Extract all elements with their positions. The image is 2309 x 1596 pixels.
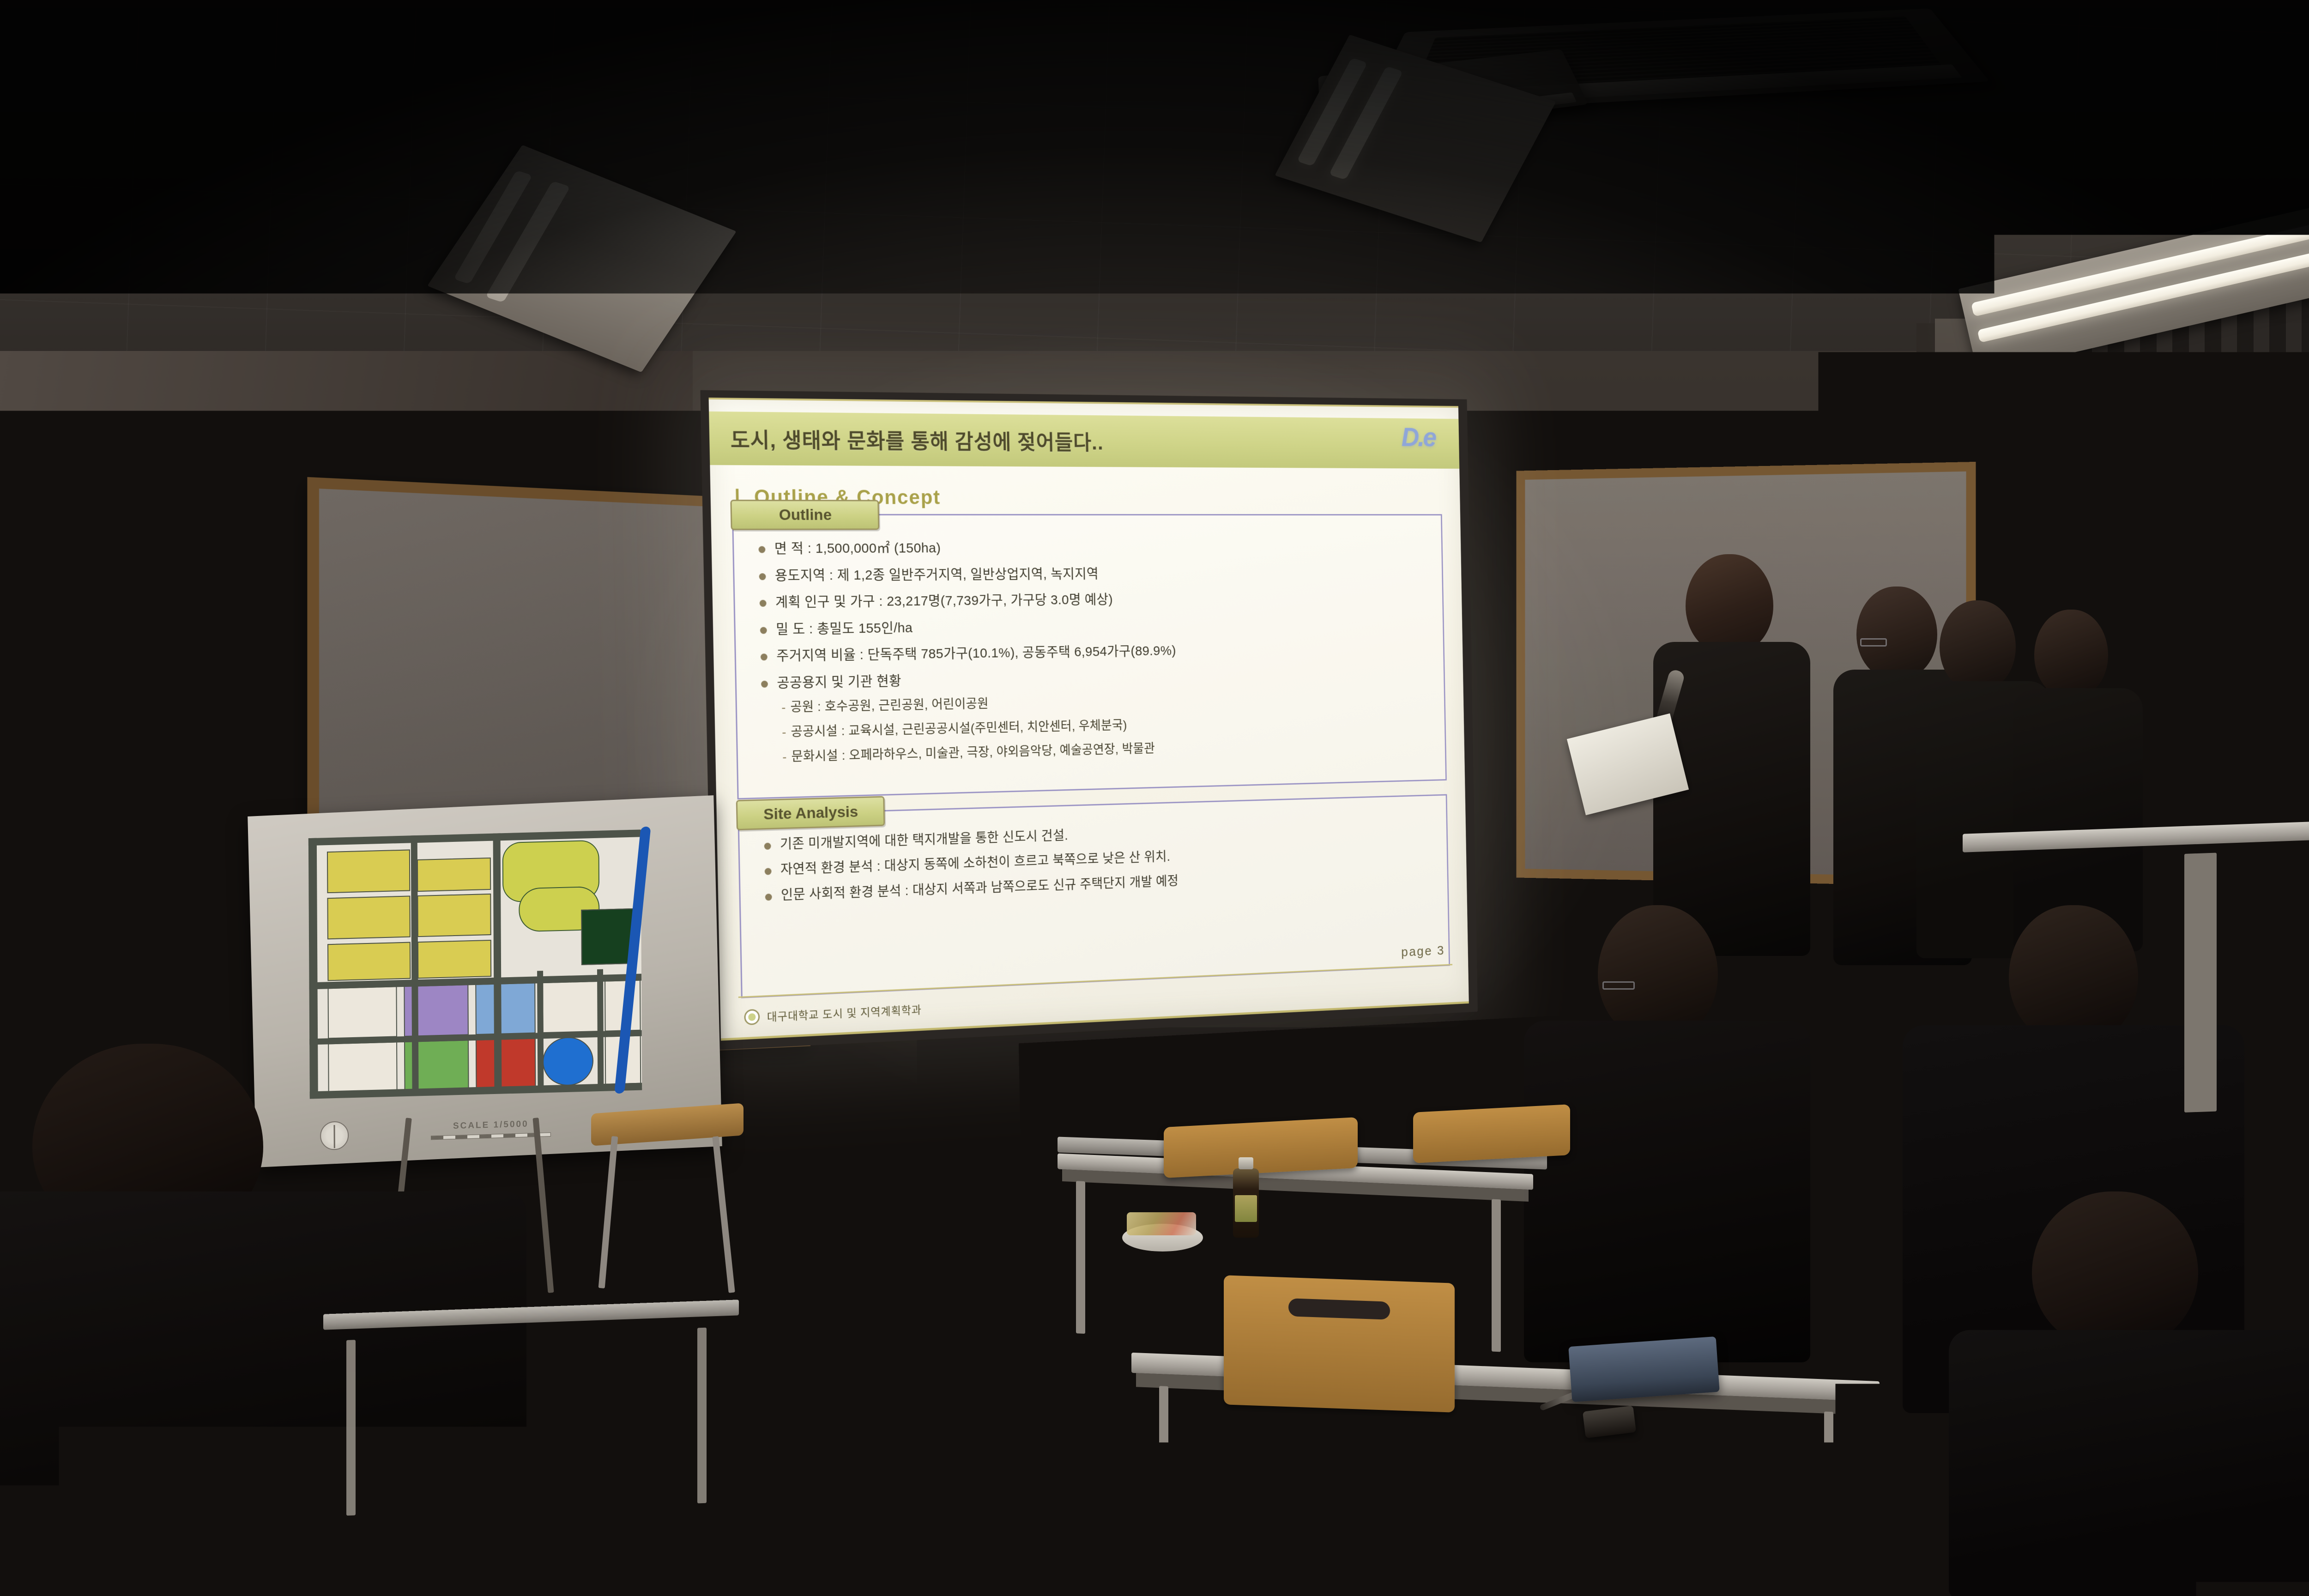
cola-bottle[interactable] <box>1233 1168 1259 1238</box>
snack-items <box>1127 1212 1196 1235</box>
sub-item-text: 공공시설 : 교육시설, 근린공공시설(주민센터, 치안센터, 우체분국) <box>791 718 1127 739</box>
lectern-right <box>1963 819 2309 1120</box>
de-logo: D.e <box>1401 422 1435 453</box>
clipboard[interactable] <box>1334 1371 1516 1524</box>
desk-left-foreground <box>323 1300 739 1526</box>
sub-item-text: 공원 : 호수공원, 근린공원, 어린이공원 <box>790 696 989 714</box>
dash-icon: - <box>781 700 786 714</box>
bullet-dot-icon <box>761 653 768 660</box>
list-item: 계획 인구 및 가구 : 23,217명(7,739가구, 가구당 3.0명 예… <box>759 590 1431 611</box>
person-head <box>2224 582 2304 674</box>
bottle-label <box>1235 1195 1257 1222</box>
desk-leg <box>1076 1181 1085 1334</box>
desk-leg <box>346 1340 356 1516</box>
slide-header-title: 도시, 생태와 문화를 통해 감성에 젖어들다.. <box>709 423 1104 456</box>
clipboard-clip <box>1402 1370 1445 1392</box>
plan-block <box>327 895 410 939</box>
desk-leg <box>1159 1386 1168 1580</box>
bullet-text: 공공용지 및 기관 현황 <box>777 673 901 691</box>
bullet-text: 기존 미개발지역에 대한 택지개발을 통한 신도시 건설. <box>780 828 1069 852</box>
plan-block <box>327 942 411 981</box>
bullet-dot-icon <box>761 680 768 687</box>
eyeglasses-icon <box>1860 638 1887 647</box>
bullet-text: 인문 사회적 환경 분석 : 대상지 서쪽과 남쪽으로도 신규 주택단지 개발 … <box>781 874 1179 903</box>
chair-near-easel[interactable] <box>591 1108 743 1302</box>
teammate-head <box>2034 610 2108 697</box>
site-bullet-list: 기존 미개발지역에 대한 택지개발을 통한 신도시 건설. 자연적 환경 분석 … <box>764 817 1436 914</box>
list-item: 면 적 : 1,500,000㎡ (150ha) <box>758 539 1430 557</box>
eyeglasses-icon <box>1602 981 1635 990</box>
dash-icon: - <box>782 725 786 739</box>
screen-frame: 도시, 생태와 문화를 통해 감성에 젖어들다.. D.e Ⅰ. Outline… <box>700 390 1478 1051</box>
site-analysis-tab-label: Site Analysis <box>736 796 885 830</box>
audience-torso <box>1949 1330 2309 1596</box>
bottle-cap <box>1239 1157 1253 1169</box>
site-analysis-panel: Site Analysis 기존 미개발지역에 대한 택지개발을 통한 신도시 … <box>737 794 1450 998</box>
list-item: 공공용지 및 기관 현황 <box>761 665 1433 691</box>
plan-block <box>417 940 491 979</box>
bullet-text: 밀 도 : 총밀도 155인/ha <box>776 620 913 637</box>
chair-leg <box>598 1136 618 1288</box>
bullet-text: 주거지역 비율 : 단독주택 785가구(10.1%), 공동주택 6,954가… <box>776 643 1176 664</box>
chair-back[interactable] <box>1164 1117 1358 1178</box>
audience-torso <box>1524 1021 1810 1362</box>
blue-notebook[interactable] <box>1568 1336 1720 1402</box>
chair-handle-slot <box>1288 1298 1390 1320</box>
list-item: 밀 도 : 총밀도 155인/ha <box>760 615 1432 638</box>
bullet-dot-icon <box>758 546 765 553</box>
bullet-text: 용도지역 : 제 1,2종 일반주거지역, 일반상업지역, 녹지지역 <box>775 566 1099 584</box>
presenter-head <box>1686 554 1773 653</box>
presentation-slide: 도시, 생태와 문화를 통해 감성에 젖어들다.. D.e Ⅰ. Outline… <box>709 398 1469 1041</box>
outline-bullet-list: 면 적 : 1,500,000㎡ (150ha) 용도지역 : 제 1,2종 일… <box>758 539 1434 772</box>
chair-leg <box>712 1136 735 1293</box>
bullet-dot-icon <box>760 600 767 607</box>
dash-icon: - <box>782 750 787 764</box>
bullet-dot-icon <box>765 868 772 875</box>
desk-leg <box>1492 1199 1501 1352</box>
classroom-photo-scene: 도시, 생태와 문화를 통해 감성에 젖어들다.. D.e Ⅰ. Outline… <box>0 0 2309 1596</box>
bullet-text: 자연적 환경 분석 : 대상지 동쪽에 소하천이 흐르고 북쪽으로 낮은 산 위… <box>780 850 1171 878</box>
bullet-text: 계획 인구 및 가구 : 23,217명(7,739가구, 가구당 3.0명 예… <box>775 592 1113 611</box>
outline-tab-label: Outline <box>730 500 879 530</box>
slide-footer: 대구대학교 도시 및 지역계획학과 <box>744 1001 922 1025</box>
audience-head <box>2032 1191 2198 1348</box>
bullet-dot-icon <box>764 843 771 850</box>
desk-leg <box>1824 1412 1833 1596</box>
audience-head <box>1598 905 1718 1039</box>
bullet-dot-icon <box>759 573 766 580</box>
clipboard-paper <box>1342 1383 1500 1514</box>
plan-block <box>417 858 491 892</box>
lectern-leg <box>2184 853 2217 1112</box>
teammate-head <box>1940 600 2016 690</box>
sub-item-text: 문화시설 : 오페라하우스, 미술관, 극장, 야외음악당, 예술공연장, 박물… <box>791 741 1155 763</box>
plan-block <box>327 849 410 893</box>
bullet-text: 면 적 : 1,500,000㎡ (150ha) <box>774 541 941 557</box>
slide-page-number: page 3 <box>1401 943 1445 960</box>
list-item: 용도지역 : 제 1,2종 일반주거지역, 일반상업지역, 녹지지역 <box>759 565 1431 584</box>
chair-back[interactable] <box>1413 1104 1570 1163</box>
projector-screen: 도시, 생태와 문화를 통해 감성에 젖어들다.. D.e Ⅰ. Outline… <box>700 390 1478 1051</box>
outline-panel: Outline 면 적 : 1,500,000㎡ (150ha) 용도지역 : … <box>732 514 1447 799</box>
desk-leg <box>697 1328 707 1504</box>
slide-footer-org: 대구대학교 도시 및 지역계획학과 <box>767 1001 922 1024</box>
bullet-dot-icon <box>765 894 772 901</box>
plan-road-vertical <box>597 969 604 1089</box>
list-item: 주거지역 비율 : 단독주택 785가구(10.1%), 공동주택 6,954가… <box>761 640 1433 665</box>
plan-block <box>417 894 491 937</box>
slide-header-band: 도시, 생태와 문화를 통해 감성에 젖어들다.. <box>709 411 1459 469</box>
bullet-dot-icon <box>760 627 767 634</box>
university-emblem-icon <box>744 1009 760 1025</box>
audience-member-bottom-right <box>1949 1191 2309 1596</box>
